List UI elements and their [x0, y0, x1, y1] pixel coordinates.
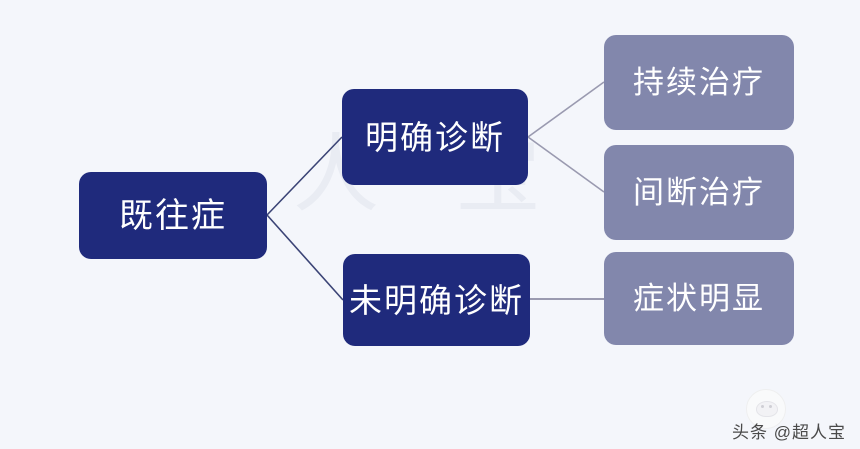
- edge-confirmed-to-continuous: [528, 82, 604, 137]
- node-obvious-symptoms[interactable]: 症状明显: [604, 252, 794, 345]
- node-label: 症状明显: [633, 283, 765, 314]
- diagram-canvas: 人 宝 既往症 明确诊断 未明确诊断 持续治疗 间断治疗 症状明显 头条 @超人…: [0, 0, 860, 449]
- node-label: 间断治疗: [633, 177, 765, 208]
- node-confirmed-diagnosis[interactable]: 明确诊断: [342, 89, 528, 185]
- node-unconfirmed-diagnosis[interactable]: 未明确诊断: [343, 254, 530, 346]
- edge-root-to-unconfirmed: [267, 215, 343, 300]
- corner-watermark: 头条 @超人宝: [732, 424, 846, 441]
- node-continuous-treatment[interactable]: 持续治疗: [604, 35, 794, 130]
- node-root-previous-illness[interactable]: 既往症: [79, 172, 267, 259]
- avatar-eye-left: [761, 405, 764, 408]
- node-intermittent-treatment[interactable]: 间断治疗: [604, 145, 794, 240]
- node-label: 既往症: [119, 199, 227, 233]
- avatar-eye-right: [769, 405, 772, 408]
- edge-confirmed-to-intermittent: [528, 137, 604, 192]
- node-label: 明确诊断: [365, 121, 505, 154]
- node-label: 持续治疗: [633, 67, 765, 98]
- avatar-face: [756, 401, 778, 417]
- node-label: 未明确诊断: [349, 284, 524, 317]
- edge-root-to-confirmed: [267, 137, 342, 215]
- corner-watermark-text: 头条 @超人宝: [732, 424, 846, 441]
